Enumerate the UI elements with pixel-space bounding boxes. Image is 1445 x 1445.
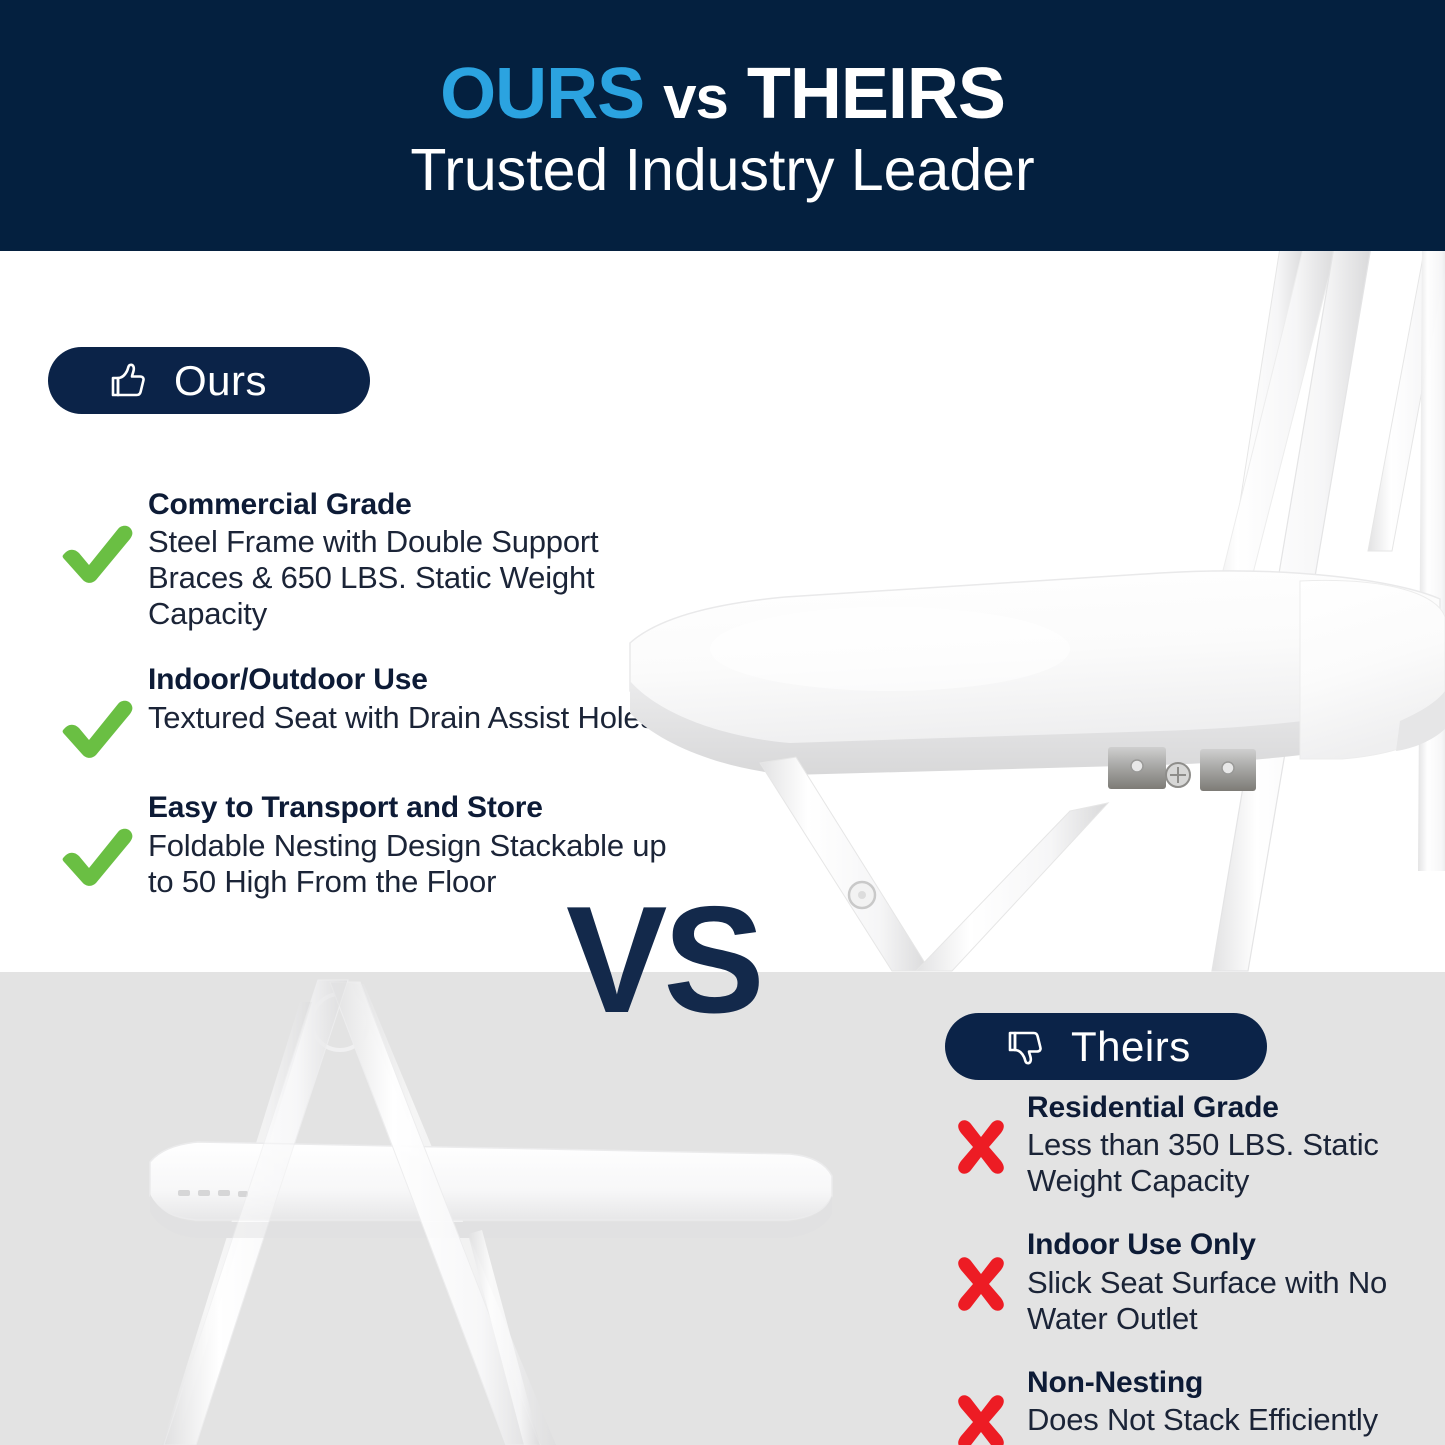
- title-theirs-word: THEIRS: [747, 54, 1005, 134]
- thumbs-up-icon: [104, 358, 150, 404]
- feature-title: Indoor Use Only: [1027, 1227, 1435, 1262]
- feature-text: Residential Grade Less than 350 LBS. Sta…: [1027, 1090, 1435, 1199]
- vs-divider-label: VS: [566, 884, 761, 1036]
- list-item: Commercial Grade Steel Frame with Double…: [48, 487, 668, 632]
- comparison-infographic: OURS vs THEIRS Trusted Industry Leader: [0, 0, 1445, 1445]
- title-vs-word: vs: [663, 64, 728, 131]
- feature-list-theirs: Residential Grade Less than 350 LBS. Sta…: [935, 1090, 1435, 1445]
- list-item: Indoor Use Only Slick Seat Surface with …: [935, 1227, 1435, 1336]
- red-x-icon: [935, 1227, 1027, 1315]
- feature-title: Residential Grade: [1027, 1090, 1435, 1125]
- feature-text: Commercial Grade Steel Frame with Double…: [148, 487, 668, 632]
- red-x-icon: [935, 1090, 1027, 1178]
- feature-description: Steel Frame with Double Support Braces &…: [148, 524, 668, 632]
- header-banner: OURS vs THEIRS Trusted Industry Leader: [0, 0, 1445, 251]
- feature-title: Indoor/Outdoor Use: [148, 662, 668, 697]
- list-item: Non-Nesting Does Not Stack Efficiently: [935, 1365, 1435, 1445]
- product-photo-ours: [600, 251, 1445, 972]
- title-ours-word: OURS: [440, 54, 644, 134]
- badge-theirs: Theirs: [945, 1013, 1267, 1080]
- thumbs-down-icon: [1001, 1024, 1047, 1070]
- list-item: Indoor/Outdoor Use Textured Seat with Dr…: [48, 662, 668, 760]
- badge-ours-label: Ours: [174, 360, 267, 402]
- feature-description: Does Not Stack Efficiently: [1027, 1402, 1435, 1438]
- page-title: OURS vs THEIRS: [440, 58, 1005, 130]
- green-check-icon: [48, 662, 148, 760]
- feature-list-ours: Commercial Grade Steel Frame with Double…: [48, 487, 668, 930]
- green-check-icon: [48, 790, 148, 888]
- feature-description: Less than 350 LBS. Static Weight Capacit…: [1027, 1127, 1435, 1199]
- green-check-icon: [48, 487, 148, 585]
- badge-ours: Ours: [48, 347, 370, 414]
- feature-text: Indoor Use Only Slick Seat Surface with …: [1027, 1227, 1435, 1336]
- feature-title: Commercial Grade: [148, 487, 668, 522]
- page-subtitle: Trusted Industry Leader: [410, 138, 1034, 203]
- feature-description: Textured Seat with Drain Assist Holes: [148, 700, 668, 736]
- list-item: Residential Grade Less than 350 LBS. Sta…: [935, 1090, 1435, 1199]
- badge-theirs-label: Theirs: [1071, 1026, 1191, 1068]
- feature-text: Indoor/Outdoor Use Textured Seat with Dr…: [148, 662, 668, 735]
- folding-chair-seat-illustration: [600, 251, 1445, 972]
- feature-description: Slick Seat Surface with No Water Outlet: [1027, 1265, 1435, 1337]
- feature-text: Non-Nesting Does Not Stack Efficiently: [1027, 1365, 1435, 1438]
- feature-title: Easy to Transport and Store: [148, 790, 668, 825]
- red-x-icon: [935, 1365, 1027, 1445]
- feature-title: Non-Nesting: [1027, 1365, 1435, 1400]
